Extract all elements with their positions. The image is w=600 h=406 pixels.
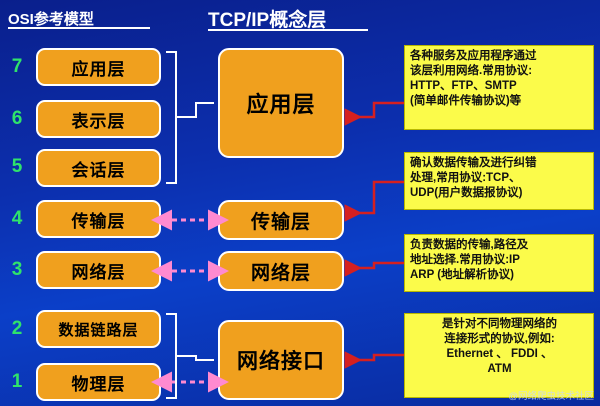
osi-box-session[interactable]: 会话层	[36, 149, 161, 187]
note-internet-line-2: 地址选择.常用协议:IP	[410, 253, 589, 268]
osi-number-5: 5	[8, 156, 26, 178]
note-application-line-1: 各种服务及应用程序通过	[410, 49, 589, 64]
osi-number-4: 4	[8, 208, 26, 230]
header-tcp: TCP/IP概念层	[208, 5, 326, 32]
osi-box-transport[interactable]: 传输层	[36, 200, 161, 238]
note-application-line-2: 该层利用网络.常用协议:	[410, 64, 589, 79]
osi-box-network[interactable]: 网络层	[36, 251, 161, 289]
note-application: 各种服务及应用程序通过 该层利用网络.常用协议: HTTP、FTP、SMTP (…	[404, 45, 594, 130]
note-application-line-3: HTTP、FTP、SMTP	[410, 79, 589, 94]
osi-box-physical[interactable]: 物理层	[36, 363, 161, 401]
osi-number-3: 3	[8, 259, 26, 281]
osi-box-application[interactable]: 应用层	[36, 48, 161, 86]
osi-number-1: 1	[8, 371, 26, 393]
osi-box-datalink[interactable]: 数据链路层	[36, 310, 161, 348]
connector-note-transport	[347, 182, 404, 213]
tcp-box-application[interactable]: 应用层	[218, 48, 344, 158]
connector-note-network-interface	[347, 355, 404, 360]
osi-number-6: 6	[8, 108, 26, 130]
tcp-box-network-interface[interactable]: 网络接口	[218, 320, 344, 400]
osi-number-2: 2	[8, 318, 26, 340]
note-network-interface-line-3: Ethernet 、 FDDI 、	[410, 347, 589, 362]
note-transport-line-3: UDP(用户数据报协议)	[410, 186, 589, 201]
note-internet-line-1: 负责数据的传输,路径及	[410, 238, 589, 253]
note-network-interface-line-4: ATM	[410, 362, 589, 377]
note-transport: 确认数据传输及进行纠错 处理,常用协议:TCP、 UDP(用户数据报协议)	[404, 152, 594, 210]
connector-note-internet	[347, 263, 404, 268]
note-internet-line-3: ARP (地址解析协议)	[410, 268, 589, 283]
note-network-interface-line-1: 是针对不同物理网络的	[410, 317, 589, 332]
note-network-interface-line-2: 连接形式的协议,例如:	[410, 332, 589, 347]
tcp-box-transport[interactable]: 传输层	[218, 200, 344, 240]
note-transport-line-2: 处理,常用协议:TCP、	[410, 171, 589, 186]
diagram-canvas: OSI参考模型 TCP/IP概念层 7 6 5 4 3 2 1 应用层 表示层 …	[0, 0, 600, 406]
note-network-interface: 是针对不同物理网络的 连接形式的协议,例如: Ethernet 、 FDDI 、…	[404, 313, 594, 398]
header-osi: OSI参考模型	[8, 8, 94, 29]
bracket-datalink-group	[166, 314, 214, 398]
watermark: @网络爬虫技术社区	[508, 388, 594, 402]
header-tcp-underline	[208, 29, 368, 31]
note-application-line-4: (简单邮件传输协议)等	[410, 94, 589, 109]
note-transport-line-1: 确认数据传输及进行纠错	[410, 156, 589, 171]
osi-number-7: 7	[8, 56, 26, 78]
tcp-box-internet[interactable]: 网络层	[218, 251, 344, 291]
header-osi-underline	[8, 27, 150, 29]
connector-note-application	[347, 103, 404, 117]
bracket-application-group	[166, 52, 214, 183]
osi-box-presentation[interactable]: 表示层	[36, 100, 161, 138]
note-internet: 负责数据的传输,路径及 地址选择.常用协议:IP ARP (地址解析协议)	[404, 234, 594, 292]
